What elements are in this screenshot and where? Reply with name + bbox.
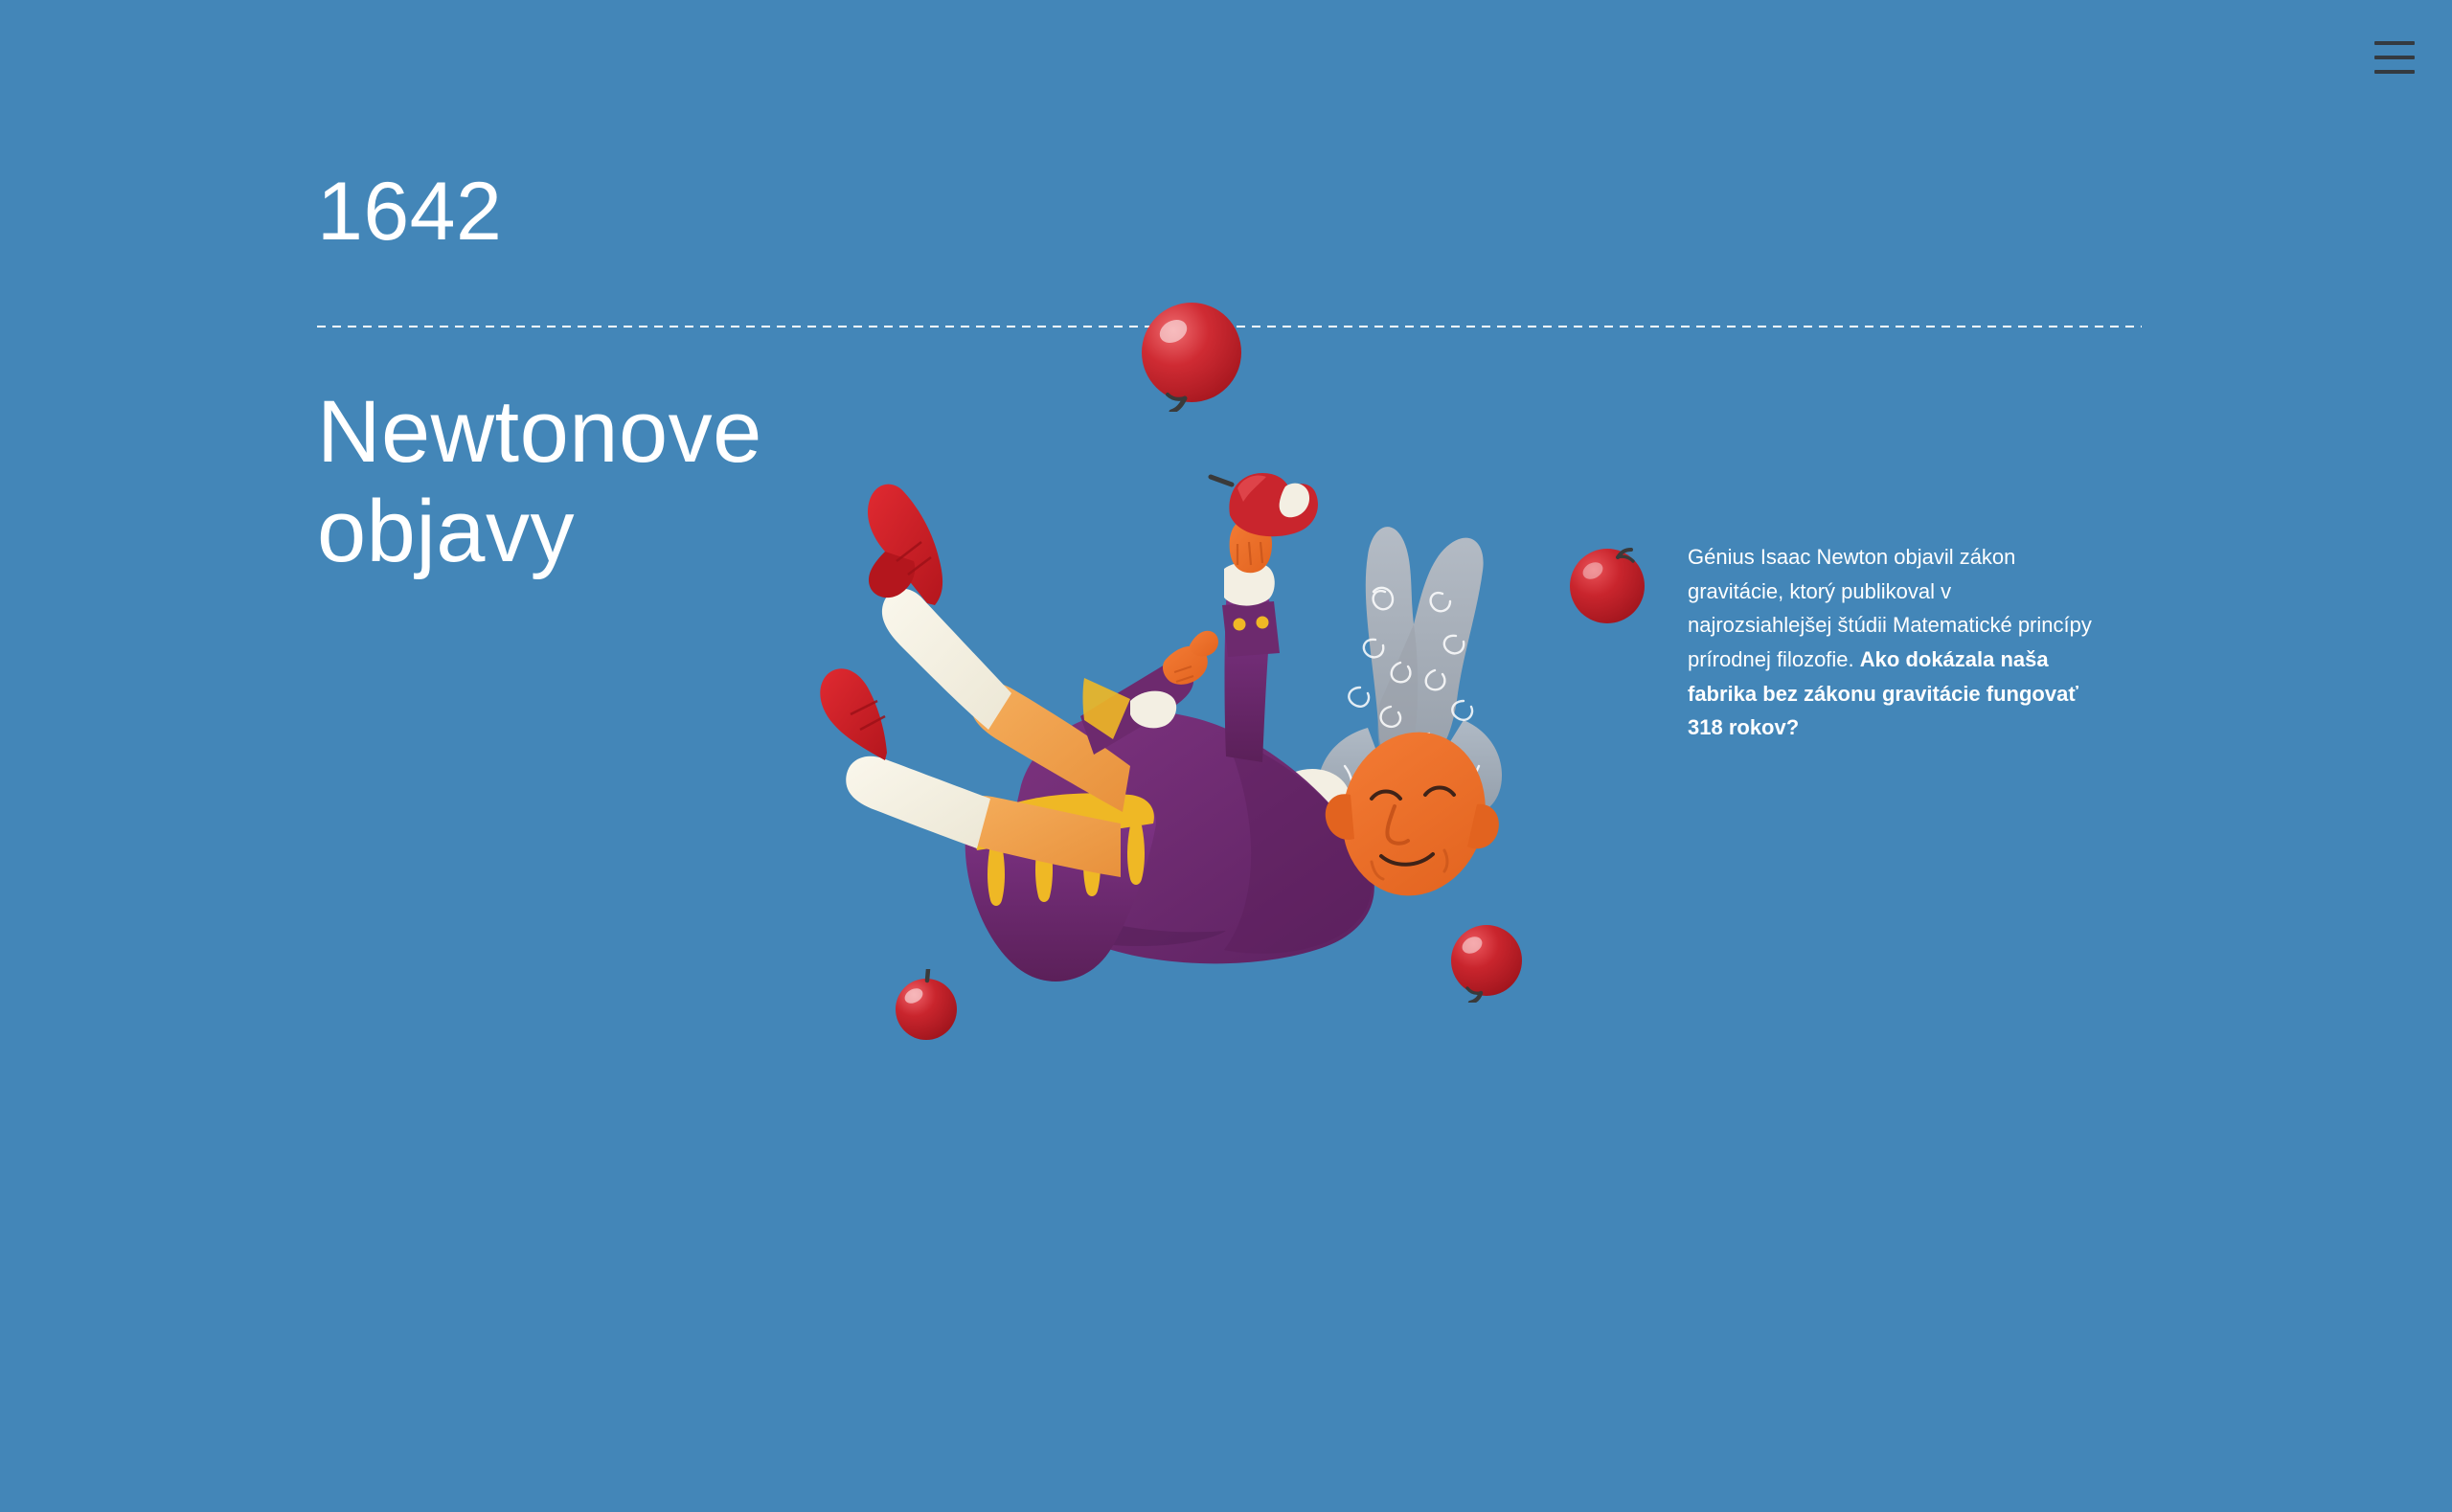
hamburger-icon-bar-3 (2374, 70, 2415, 74)
coat-button-1 (1234, 619, 1246, 631)
hamburger-menu-button[interactable] (2366, 36, 2423, 79)
body-paragraph: Génius Isaac Newton objavil zákon gravit… (1688, 540, 2100, 745)
apple-bottom-left (891, 969, 962, 1040)
arm-holding-apple (1222, 519, 1280, 762)
apple-right (1566, 544, 1648, 626)
apple-bottom-right (1446, 922, 1527, 1003)
hamburger-icon-bar-2 (2374, 56, 2415, 59)
coat-button-2 (1257, 617, 1269, 629)
leg-upper (868, 485, 1130, 812)
hamburger-icon-bar-1 (2374, 41, 2415, 45)
bitten-apple-in-hand (1211, 473, 1318, 536)
page-title-line-2: objavy (317, 483, 575, 580)
page-title-line-1: Newtonove (317, 383, 762, 481)
year-label: 1642 (317, 170, 502, 253)
apple-top (1135, 299, 1248, 412)
page-root: 1642 Newtonove objavy Génius Isaac Newto… (0, 0, 2452, 1512)
